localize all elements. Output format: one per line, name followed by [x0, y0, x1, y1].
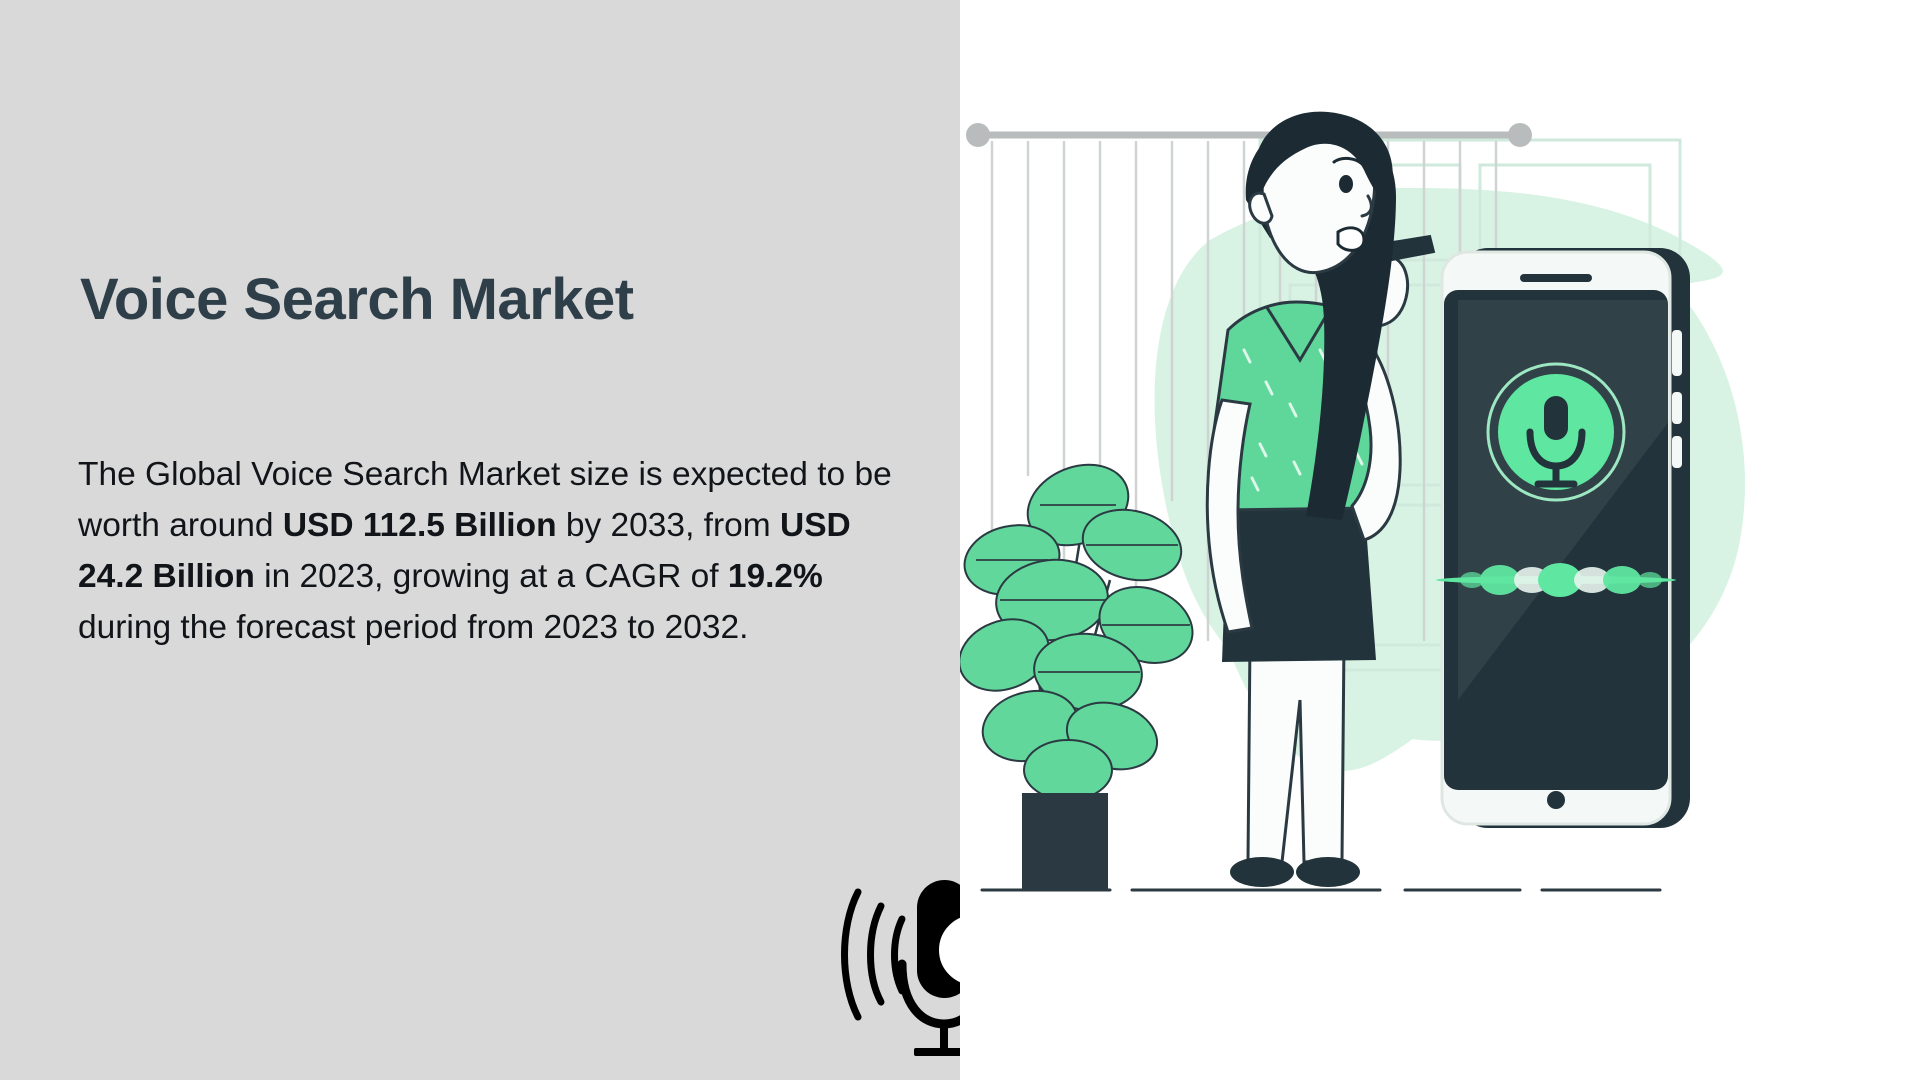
eye [1339, 175, 1353, 193]
large-smartphone[interactable] [1436, 248, 1690, 828]
paragraph-run: in 2023, growing at a CAGR of [255, 558, 728, 595]
skirt [1222, 500, 1376, 662]
highlight-value: 19.2% [728, 558, 823, 595]
market-summary-paragraph: The Global Voice Search Market size is e… [78, 450, 908, 654]
home-button-icon [1547, 791, 1565, 809]
monstera-plant [960, 450, 1204, 889]
paragraph-text: The Global Voice Search Market size is e… [78, 456, 892, 646]
plant-pot [1022, 793, 1108, 889]
phone-side-buttons [1672, 330, 1682, 468]
paragraph-run: during the forecast period from 2023 to … [78, 609, 748, 646]
earpiece-icon [1520, 274, 1592, 282]
voice-search-scene [960, 0, 1920, 1080]
mouth [1338, 228, 1364, 251]
highlight-value: USD 112.5 Billion [283, 507, 557, 544]
illustration-panel [960, 0, 1920, 1080]
curtain-rod [966, 123, 1532, 147]
sound-wave-icon [845, 892, 903, 1017]
left-text-panel: Voice Search Market The Global Voice Sea… [0, 0, 960, 1080]
shoes [1230, 857, 1360, 887]
paragraph-run: by 2033, from [557, 507, 780, 544]
page-title: Voice Search Market [80, 268, 634, 332]
infographic-root: Voice Search Market The Global Voice Sea… [0, 0, 1920, 1080]
